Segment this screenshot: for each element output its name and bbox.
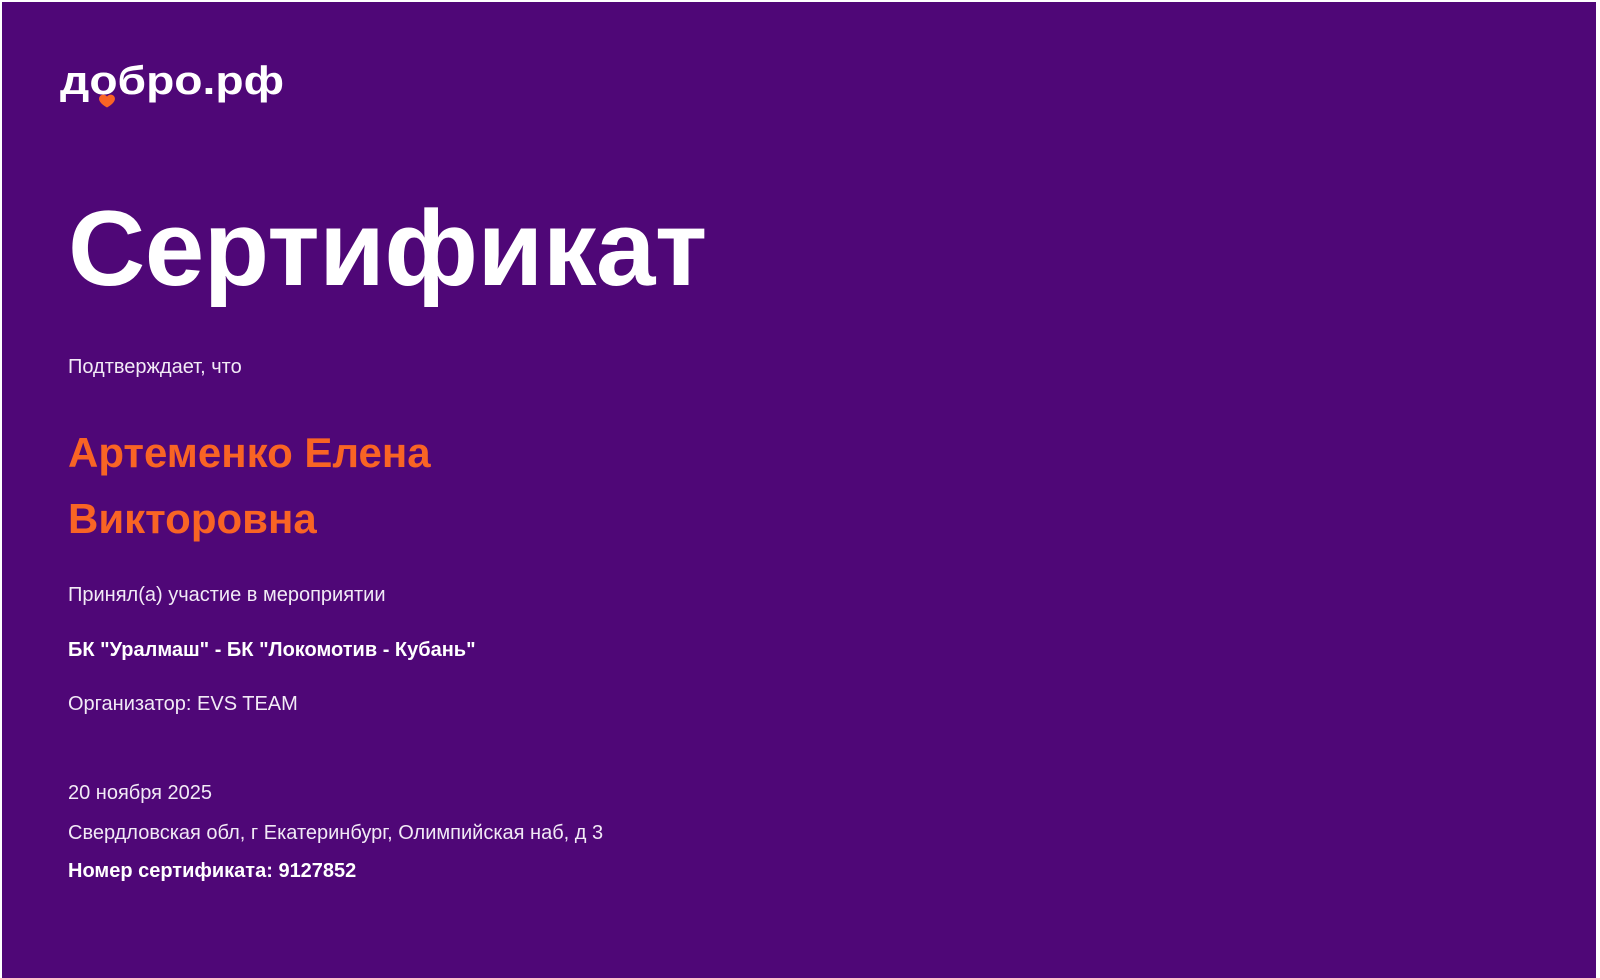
certificate-body: Подтверждает, что Артеменко Елена Виктор…	[68, 354, 928, 717]
certificate-footer: 20 ноября 2025 Свердловская обл, г Екате…	[68, 780, 1068, 884]
certificate-number: Номер сертификата: 9127852	[68, 858, 1068, 884]
issue-date: 20 ноября 2025	[68, 780, 1068, 806]
dobro-rf-logo: добро.рф	[60, 58, 300, 114]
logo-text: добро.рф	[60, 59, 284, 103]
event-name: БК "Уралмаш" - БК "Локомотив - Кубань"	[68, 637, 928, 663]
organizer-line: Организатор: EVS TEAM	[68, 691, 928, 717]
page-title: Сертификат	[68, 192, 707, 304]
certificate-page: добро.рф Сертификат Подтверждает, что Ар…	[0, 0, 1600, 978]
heart-icon	[99, 95, 115, 108]
recipient-name: Артеменко Елена Викторовна	[68, 420, 598, 552]
participation-label: Принял(а) участие в мероприятии	[68, 582, 928, 608]
event-address: Свердловская обл, г Екатеринбург, Олимпи…	[68, 820, 1068, 846]
logo-wordmark-svg: добро.рф	[60, 58, 288, 110]
confirm-label: Подтверждает, что	[68, 354, 928, 380]
